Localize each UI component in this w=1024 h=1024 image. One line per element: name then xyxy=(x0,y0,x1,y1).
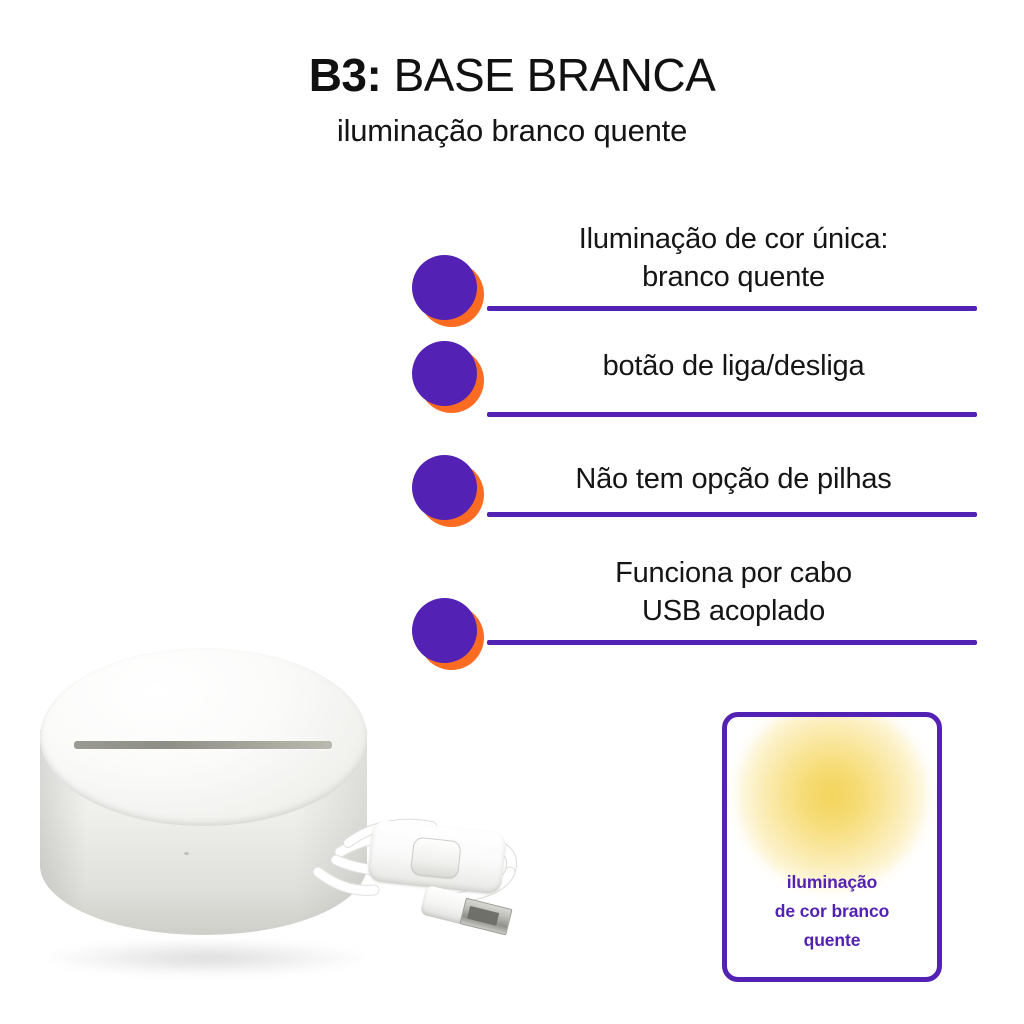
light-card-label-line3: quente xyxy=(735,926,929,955)
feature-text-line2: branco quente xyxy=(487,258,980,296)
feature-underline xyxy=(487,512,977,517)
feature-text-line2: USB acoplado xyxy=(487,592,980,630)
warm-white-glow-icon xyxy=(737,712,927,890)
purple-dot-icon xyxy=(405,248,487,330)
feature-item: Iluminação de cor única: branco quente xyxy=(405,208,980,324)
light-card-label-line2: de cor branco xyxy=(735,897,929,926)
purple-dot-icon xyxy=(405,334,487,416)
feature-item: Não tem opção de pilhas xyxy=(405,440,980,556)
feature-underline xyxy=(487,640,977,645)
page-subtitle: iluminação branco quente xyxy=(0,110,1024,152)
page-title-code: B3: xyxy=(309,49,382,101)
product-photo xyxy=(18,640,558,1000)
feature-text-line1: Iluminação de cor única: xyxy=(487,220,980,258)
feature-underline xyxy=(487,306,977,311)
dot-purple xyxy=(412,455,477,520)
feature-text-line1: Funciona por cabo xyxy=(487,554,980,592)
infographic-page: B3: BASE BRANCA iluminação branco quente… xyxy=(0,0,1024,1024)
light-card-label-line1: iluminação xyxy=(735,868,929,897)
feature-text-line1: botão de liga/desliga xyxy=(487,347,980,385)
switch-rocker-button[interactable] xyxy=(410,836,462,879)
dot-purple xyxy=(412,341,477,406)
purple-dot-icon xyxy=(405,448,487,530)
feature-underline xyxy=(487,412,977,417)
light-color-card-label: iluminação de cor branco quente xyxy=(735,868,929,955)
feature-text-line1: Não tem opção de pilhas xyxy=(487,460,980,498)
page-title: B3: BASE BRANCA xyxy=(0,46,1024,104)
usb-cable xyxy=(18,640,558,1000)
feature-text: Funciona por cabo USB acoplado xyxy=(487,554,980,630)
feature-item: botão de liga/desliga xyxy=(405,324,980,440)
feature-text: Não tem opção de pilhas xyxy=(487,460,980,498)
feature-text: Iluminação de cor única: branco quente xyxy=(487,220,980,296)
page-header: B3: BASE BRANCA iluminação branco quente xyxy=(0,46,1024,152)
feature-list: Iluminação de cor única: branco quente b… xyxy=(405,208,980,674)
dot-purple xyxy=(412,255,477,320)
feature-text: botão de liga/desliga xyxy=(487,347,980,385)
page-title-rest: BASE BRANCA xyxy=(381,49,715,101)
light-color-card: iluminação de cor branco quente xyxy=(722,712,942,982)
